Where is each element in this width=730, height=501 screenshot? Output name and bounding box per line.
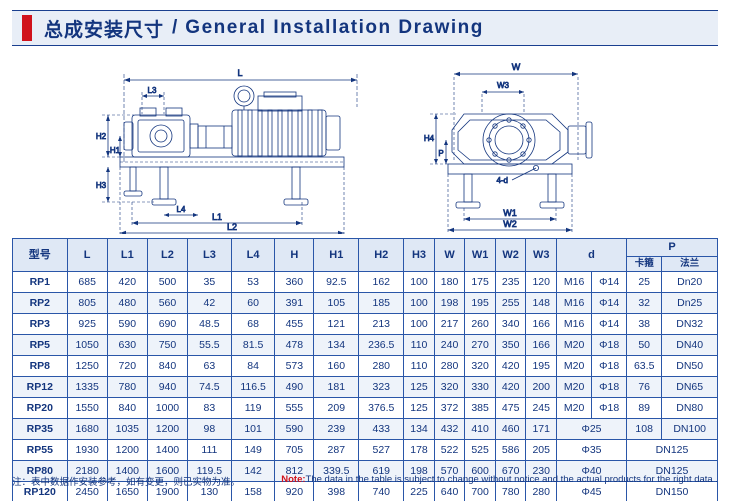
col-header-H1: H1 xyxy=(314,239,359,272)
cell-value: 350 xyxy=(495,335,526,356)
cell-value: 1335 xyxy=(67,377,107,398)
cell-d-diameter: Φ18 xyxy=(592,377,627,398)
cell-value: 1400 xyxy=(147,440,187,461)
col-header-d: d xyxy=(556,239,626,272)
dim-label-P: P xyxy=(438,149,443,158)
cell-value: 121 xyxy=(314,314,359,335)
cell-value: 340 xyxy=(495,314,526,335)
cell-value: 280 xyxy=(359,356,404,377)
cell-p-flange: DN125 xyxy=(627,440,718,461)
cell-d-diameter: Φ14 xyxy=(592,293,627,314)
cell-value: 160 xyxy=(314,356,359,377)
cell-d-thread: M20 xyxy=(556,398,591,419)
cell-value: 53 xyxy=(231,272,275,293)
cell-p-clamp: 25 xyxy=(627,272,662,293)
cell-value: 555 xyxy=(275,398,314,419)
table-body: RP1685420500355336092.516210018017523512… xyxy=(13,272,718,501)
cell-value: 320 xyxy=(465,356,496,377)
header-accent-bar xyxy=(22,15,32,41)
cell-value: 360 xyxy=(275,272,314,293)
cell-value: 100 xyxy=(404,272,435,293)
table-header-row: 型号 L L1 L2 L3 L4 H H1 H2 H3 W W1 W2 W3 d… xyxy=(13,239,718,257)
cell-model: RP20 xyxy=(13,398,68,419)
cell-p-flange: Dn25 xyxy=(662,293,718,314)
cell-value: 195 xyxy=(526,356,557,377)
cell-p-clamp: 50 xyxy=(627,335,662,356)
cell-value: 84 xyxy=(231,356,275,377)
cell-value: 239 xyxy=(314,419,359,440)
cell-model: RP35 xyxy=(13,419,68,440)
cell-value: 101 xyxy=(231,419,275,440)
cell-value: 940 xyxy=(147,377,187,398)
cell-value: 240 xyxy=(434,335,465,356)
page-header: 总成安装尺寸 / General Installation Drawing xyxy=(12,10,718,46)
cell-value: 780 xyxy=(107,377,147,398)
cell-p-flange: DN40 xyxy=(662,335,718,356)
table-row: RP392559069048.5684551212131002172603401… xyxy=(13,314,718,335)
cell-value: 1000 xyxy=(147,398,187,419)
cell-value: 180 xyxy=(434,272,465,293)
table-row: RP35168010351200981015902394331344324104… xyxy=(13,419,718,440)
table-row: RP5105063075055.581.5478134236.511024027… xyxy=(13,335,718,356)
title-separator: / xyxy=(172,17,177,39)
col-header-L: L xyxy=(67,239,107,272)
dim-label-H3: H3 xyxy=(96,181,107,190)
dim-label-L: L xyxy=(237,68,242,78)
cell-d-thread: M20 xyxy=(556,356,591,377)
cell-value: 420 xyxy=(107,272,147,293)
cell-value: 270 xyxy=(465,335,496,356)
note-text: The data in the table is subject to chan… xyxy=(306,474,718,485)
cell-model: RP55 xyxy=(13,440,68,461)
cell-d-diameter: Φ14 xyxy=(592,314,627,335)
cell-value: 111 xyxy=(188,440,232,461)
cell-value: 391 xyxy=(275,293,314,314)
cell-value: 840 xyxy=(107,398,147,419)
cell-value: 1035 xyxy=(107,419,147,440)
cell-value: 527 xyxy=(359,440,404,461)
table-row: RP12133578094074.5116.549018132312532033… xyxy=(13,377,718,398)
cell-value: 1050 xyxy=(67,335,107,356)
specification-table: 型号 L L1 L2 L3 L4 H H1 H2 H3 W W1 W2 W3 d… xyxy=(12,238,718,501)
cell-p-flange: DN50 xyxy=(662,356,718,377)
cell-value: 480 xyxy=(107,293,147,314)
cell-p-clamp: 32 xyxy=(627,293,662,314)
cell-value: 805 xyxy=(67,293,107,314)
cell-value: 134 xyxy=(404,419,435,440)
cell-value: 455 xyxy=(275,314,314,335)
cell-value: 235 xyxy=(495,272,526,293)
dim-label-H2: H2 xyxy=(96,132,107,141)
cell-value: 410 xyxy=(465,419,496,440)
cell-value: 432 xyxy=(434,419,465,440)
cell-value: 385 xyxy=(465,398,496,419)
col-header-W: W xyxy=(434,239,465,272)
cell-value: 705 xyxy=(275,440,314,461)
cell-value: 81.5 xyxy=(231,335,275,356)
cell-value: 840 xyxy=(147,356,187,377)
cell-value: 175 xyxy=(465,272,496,293)
cell-value: 420 xyxy=(495,377,526,398)
cell-value: 92.5 xyxy=(314,272,359,293)
col-header-W2: W2 xyxy=(495,239,526,272)
cell-value: 100 xyxy=(404,293,435,314)
technical-drawing: L L3 xyxy=(12,52,718,234)
page-title-en: General Installation Drawing xyxy=(185,17,484,39)
cell-value: 280 xyxy=(434,356,465,377)
cell-d-diameter: Φ35 xyxy=(556,440,626,461)
cell-d-diameter: Φ18 xyxy=(592,398,627,419)
cell-p-clamp: 108 xyxy=(627,419,662,440)
table-row: RP81250720840638457316028011028032042019… xyxy=(13,356,718,377)
table-row: RP1685420500355336092.516210018017523512… xyxy=(13,272,718,293)
col-header-W1: W1 xyxy=(465,239,496,272)
cell-value: 119 xyxy=(231,398,275,419)
col-header-H: H xyxy=(275,239,314,272)
col-header-P: P xyxy=(627,239,718,257)
cell-p-clamp: 89 xyxy=(627,398,662,419)
cell-value: 573 xyxy=(275,356,314,377)
cell-value: 750 xyxy=(147,335,187,356)
cell-p-flange: DN80 xyxy=(662,398,718,419)
cell-value: 110 xyxy=(404,356,435,377)
cell-value: 460 xyxy=(495,419,526,440)
cell-value: 320 xyxy=(434,377,465,398)
cell-value: 213 xyxy=(359,314,404,335)
cell-d-diameter: Φ14 xyxy=(592,272,627,293)
table-row: RP55193012001400111149705287527178522525… xyxy=(13,440,718,461)
cell-value: 1930 xyxy=(67,440,107,461)
cell-value: 48.5 xyxy=(188,314,232,335)
cell-value: 630 xyxy=(107,335,147,356)
cell-value: 83 xyxy=(188,398,232,419)
cell-value: 195 xyxy=(465,293,496,314)
cell-model: RP12 xyxy=(13,377,68,398)
dim-label-W3: W3 xyxy=(497,81,510,90)
cell-value: 522 xyxy=(434,440,465,461)
dim-label-H1: H1 xyxy=(110,146,121,155)
cell-p-flange: DN32 xyxy=(662,314,718,335)
cell-value: 171 xyxy=(526,419,557,440)
cell-value: 181 xyxy=(314,377,359,398)
cell-value: 198 xyxy=(434,293,465,314)
cell-value: 925 xyxy=(67,314,107,335)
cell-value: 255 xyxy=(495,293,526,314)
cell-p-flange: Dn20 xyxy=(662,272,718,293)
cell-value: 105 xyxy=(314,293,359,314)
cell-value: 162 xyxy=(359,272,404,293)
col-header-L4: L4 xyxy=(231,239,275,272)
cell-value: 63 xyxy=(188,356,232,377)
cell-p-clamp: 76 xyxy=(627,377,662,398)
cell-value: 433 xyxy=(359,419,404,440)
cell-value: 205 xyxy=(526,440,557,461)
cell-value: 185 xyxy=(359,293,404,314)
cell-value: 217 xyxy=(434,314,465,335)
cell-value: 100 xyxy=(404,314,435,335)
cell-value: 590 xyxy=(275,419,314,440)
col-header-L3: L3 xyxy=(188,239,232,272)
cell-value: 590 xyxy=(107,314,147,335)
col-header-W3: W3 xyxy=(526,239,557,272)
cell-value: 209 xyxy=(314,398,359,419)
cell-value: 125 xyxy=(404,398,435,419)
cell-value: 586 xyxy=(495,440,526,461)
page-title-cn: 总成安装尺寸 xyxy=(44,15,164,42)
cell-value: 110 xyxy=(404,335,435,356)
cell-p-clamp: 38 xyxy=(627,314,662,335)
cell-value: 98 xyxy=(188,419,232,440)
cell-d-thread: M16 xyxy=(556,293,591,314)
footer-notes: 注：表中数据作安装参考，如有变更，则已实物为准。 Note:The data i… xyxy=(12,474,718,488)
cell-value: 120 xyxy=(526,272,557,293)
cell-p-flange: DN100 xyxy=(662,419,718,440)
cell-value: 166 xyxy=(526,314,557,335)
cell-value: 690 xyxy=(147,314,187,335)
table-head: 型号 L L1 L2 L3 L4 H H1 H2 H3 W W1 W2 W3 d… xyxy=(13,239,718,272)
dim-label-L4: L4 xyxy=(177,205,186,214)
col-header-clamp: 卡箍 xyxy=(627,257,662,272)
col-header-H3: H3 xyxy=(404,239,435,272)
cell-model: RP1 xyxy=(13,272,68,293)
cell-value: 68 xyxy=(231,314,275,335)
table-row: RP28054805604260391105185100198195255148… xyxy=(13,293,718,314)
cell-value: 478 xyxy=(275,335,314,356)
cell-d-thread: M20 xyxy=(556,377,591,398)
installation-drawing-page: 总成安装尺寸 / General Installation Drawing L xyxy=(0,0,730,501)
cell-value: 125 xyxy=(404,377,435,398)
cell-value: 149 xyxy=(231,440,275,461)
dim-label-W2: W2 xyxy=(503,219,517,229)
cell-model: RP2 xyxy=(13,293,68,314)
cell-value: 376.5 xyxy=(359,398,404,419)
cell-value: 685 xyxy=(67,272,107,293)
cell-value: 287 xyxy=(314,440,359,461)
cell-value: 236.5 xyxy=(359,335,404,356)
cell-value: 116.5 xyxy=(231,377,275,398)
cell-value: 60 xyxy=(231,293,275,314)
cell-value: 372 xyxy=(434,398,465,419)
cell-value: 1250 xyxy=(67,356,107,377)
col-header-L1: L1 xyxy=(107,239,147,272)
cell-d-thread: M16 xyxy=(556,314,591,335)
cell-value: 134 xyxy=(314,335,359,356)
table-row: RP201550840100083119555209376.5125372385… xyxy=(13,398,718,419)
cell-value: 420 xyxy=(495,356,526,377)
cell-value: 42 xyxy=(188,293,232,314)
dim-label-L1: L1 xyxy=(212,212,222,222)
cell-value: 74.5 xyxy=(188,377,232,398)
dim-label-H4: H4 xyxy=(424,134,435,143)
cell-model: RP8 xyxy=(13,356,68,377)
footer-note-cn: 注：表中数据作安装参考，如有变更，则已实物为准。 xyxy=(12,474,240,488)
cell-value: 1680 xyxy=(67,419,107,440)
cell-value: 475 xyxy=(495,398,526,419)
cell-value: 55.5 xyxy=(188,335,232,356)
cell-model: RP3 xyxy=(13,314,68,335)
note-label: Note: xyxy=(281,474,305,485)
cell-value: 1200 xyxy=(147,419,187,440)
cell-p-clamp: 63.5 xyxy=(627,356,662,377)
dim-label-W: W xyxy=(512,62,521,72)
cell-value: 1200 xyxy=(107,440,147,461)
cell-d-diameter: Φ25 xyxy=(556,419,626,440)
cell-value: 323 xyxy=(359,377,404,398)
cell-value: 490 xyxy=(275,377,314,398)
cell-value: 330 xyxy=(465,377,496,398)
cell-d-diameter: Φ18 xyxy=(592,356,627,377)
cell-value: 245 xyxy=(526,398,557,419)
col-header-flange: 法兰 xyxy=(662,257,718,272)
cell-value: 178 xyxy=(404,440,435,461)
cell-model: RP5 xyxy=(13,335,68,356)
cell-value: 1550 xyxy=(67,398,107,419)
cell-d-thread: M20 xyxy=(556,335,591,356)
dim-label-W1: W1 xyxy=(503,208,517,218)
footer-note-en: Note:The data in the table is subject to… xyxy=(281,474,718,485)
cell-value: 148 xyxy=(526,293,557,314)
cell-value: 720 xyxy=(107,356,147,377)
cell-value: 560 xyxy=(147,293,187,314)
cell-value: 525 xyxy=(465,440,496,461)
dim-label-L2: L2 xyxy=(227,222,237,232)
cell-value: 200 xyxy=(526,377,557,398)
cell-value: 260 xyxy=(465,314,496,335)
col-header-L2: L2 xyxy=(147,239,187,272)
cell-value: 166 xyxy=(526,335,557,356)
cell-p-flange: DN65 xyxy=(662,377,718,398)
col-header-model: 型号 xyxy=(13,239,68,272)
col-header-H2: H2 xyxy=(359,239,404,272)
cell-value: 500 xyxy=(147,272,187,293)
dim-label-L3: L3 xyxy=(148,86,157,95)
cell-value: 35 xyxy=(188,272,232,293)
cell-d-thread: M16 xyxy=(556,272,591,293)
cell-d-diameter: Φ18 xyxy=(592,335,627,356)
dim-label-4-d: 4-d xyxy=(496,176,508,185)
